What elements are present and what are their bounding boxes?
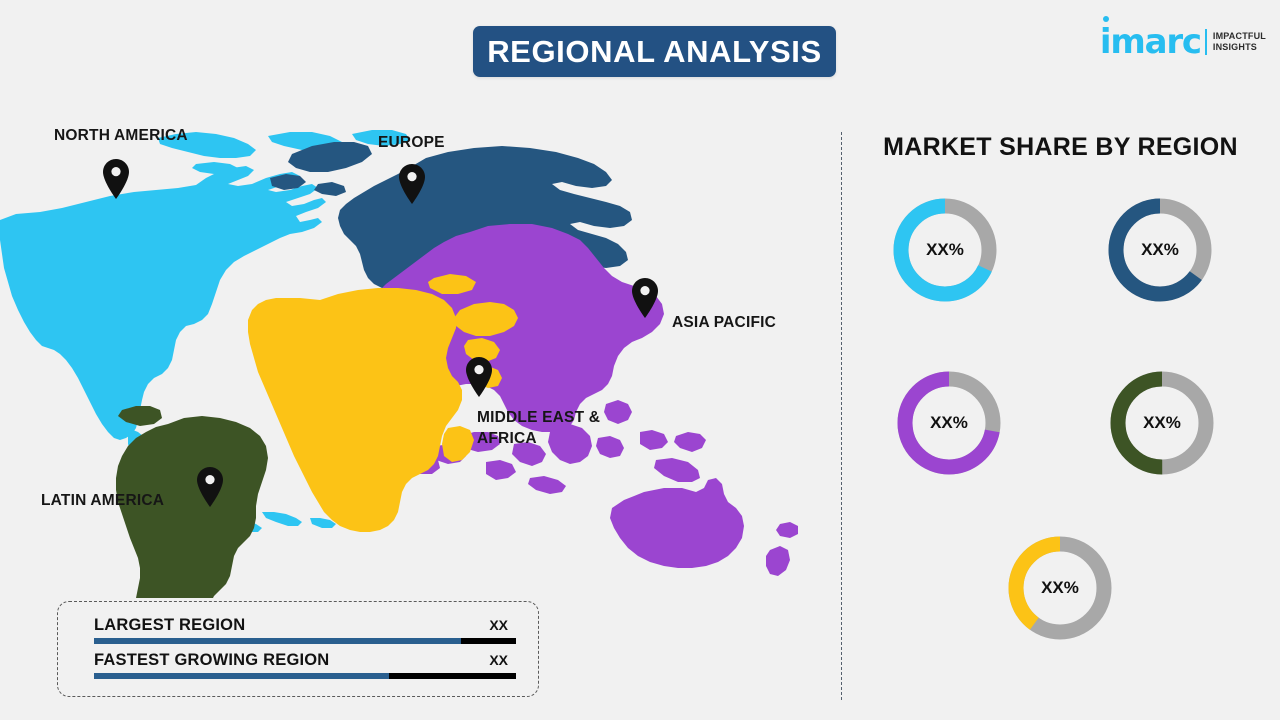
page-title: REGIONAL ANALYSIS	[487, 34, 822, 70]
logo-dot-icon	[1103, 16, 1109, 22]
legend-value-fastest-growing-region: XX	[489, 652, 516, 668]
donut-value-label: XX%	[1107, 368, 1217, 478]
market-share-title: MARKET SHARE BY REGION	[841, 133, 1280, 162]
location-pin-icon-asia-pacific[interactable]	[630, 277, 660, 319]
logo-tagline-line2: INSIGHTS	[1213, 42, 1257, 52]
logo-wordmark-text: imarc	[1100, 22, 1201, 62]
legend-row-largest-region: LARGEST REGION XX	[94, 616, 516, 644]
donut-chart-asia-pacific: XX%	[894, 368, 1004, 478]
imarc-logo: imarc IMPACTFUL INSIGHTS	[1100, 22, 1266, 62]
logo-tagline-line1: IMPACTFUL	[1213, 31, 1266, 41]
logo-wordmark: imarc	[1100, 25, 1201, 59]
legend-label-fastest-growing-region: FASTEST GROWING REGION	[94, 651, 329, 670]
legend-bar-fill-largest-region	[94, 638, 461, 644]
panel-divider	[841, 132, 842, 700]
legend-bar-fastest-growing-region	[94, 673, 516, 679]
location-pin-icon-middle-east-africa[interactable]	[464, 356, 494, 398]
region-summary-box: LARGEST REGION XX FASTEST GROWING REGION…	[57, 601, 539, 697]
map-region-middle-east-africa	[248, 274, 518, 532]
donut-value-label: XX%	[1005, 533, 1115, 643]
map-label-asia-pacific: ASIA PACIFIC	[672, 313, 776, 334]
map-label-north-america: NORTH AMERICA	[54, 126, 188, 147]
legend-bar-fill-fastest-growing-region	[94, 673, 389, 679]
map-label-europe: EUROPE	[378, 133, 445, 154]
donut-value-label: XX%	[1105, 195, 1215, 305]
donut-value-label: XX%	[894, 368, 1004, 478]
donut-chart-north-america: XX%	[890, 195, 1000, 305]
location-pin-icon-europe[interactable]	[397, 163, 427, 205]
page-title-banner: REGIONAL ANALYSIS	[473, 26, 836, 77]
logo-divider	[1205, 29, 1207, 55]
infographic-canvas: REGIONAL ANALYSIS imarc IMPACTFUL INSIGH…	[0, 0, 1280, 720]
legend-value-largest-region: XX	[489, 617, 516, 633]
donut-value-label: XX%	[890, 195, 1000, 305]
legend-label-largest-region: LARGEST REGION	[94, 616, 245, 635]
donut-chart-europe: XX%	[1105, 195, 1215, 305]
location-pin-icon-latin-america[interactable]	[195, 466, 225, 508]
legend-row-fastest-growing-region: FASTEST GROWING REGION XX	[94, 651, 516, 679]
legend-bar-largest-region	[94, 638, 516, 644]
map-label-middle-east-africa: MIDDLE EAST & AFRICA	[477, 408, 600, 450]
donut-chart-latin-america: XX%	[1107, 368, 1217, 478]
map-label-latin-america: LATIN AMERICA	[41, 491, 164, 512]
logo-tagline: IMPACTFUL INSIGHTS	[1213, 31, 1266, 54]
donut-chart-middle-east-africa: XX%	[1005, 533, 1115, 643]
location-pin-icon-north-america[interactable]	[101, 158, 131, 200]
